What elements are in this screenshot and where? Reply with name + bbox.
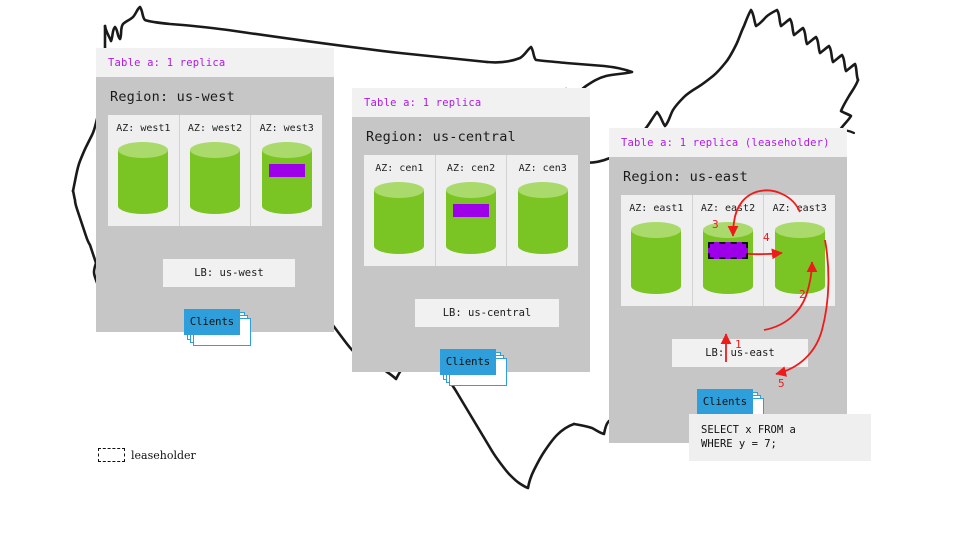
- region-title-us-central: Region: us-central: [352, 117, 590, 155]
- az-west1[interactable]: AZ: west1: [108, 115, 180, 226]
- node-cylinder-west3[interactable]: [262, 142, 312, 214]
- node-cylinder-east3[interactable]: [775, 222, 825, 294]
- panel-body-us-west: Region: us-west AZ: west1 AZ: west2: [96, 77, 334, 332]
- cylinder-top: [446, 182, 496, 198]
- region-panel-us-east: Table a: 1 replica (leaseholder) Region:…: [609, 128, 847, 443]
- leaseholder-swatch-icon: [98, 448, 125, 462]
- cylinder-top: [775, 222, 825, 238]
- node-cylinder-cen3[interactable]: [518, 182, 568, 254]
- cylinder-body: [518, 190, 568, 246]
- node-cylinder-west2[interactable]: [190, 142, 240, 214]
- cylinder-body: [118, 150, 168, 206]
- az-label-east2: AZ: east2: [693, 203, 764, 214]
- region-panel-us-central: Table a: 1 replica Region: us-central AZ…: [352, 88, 590, 372]
- load-balancer-us-west[interactable]: LB: us-west: [163, 259, 295, 287]
- panel-body-us-central: Region: us-central AZ: cen1 AZ: cen2: [352, 117, 590, 372]
- clients-us-central[interactable]: Clients: [440, 349, 496, 375]
- az-row-us-central: AZ: cen1 AZ: cen2: [364, 155, 578, 266]
- az-label-west3: AZ: west3: [251, 123, 322, 134]
- cylinder-top: [518, 182, 568, 198]
- cylinder-body: [775, 230, 825, 286]
- az-cen2[interactable]: AZ: cen2: [436, 155, 508, 266]
- arrow-label-2: 2: [799, 288, 806, 301]
- panel-body-us-east: Region: us-east AZ: east1 AZ: east2: [609, 157, 847, 443]
- cylinder-body: [446, 190, 496, 246]
- clients-label-us-east: Clients: [697, 389, 753, 415]
- diagram-canvas: Table a: 1 replica Region: us-west AZ: w…: [0, 0, 960, 540]
- az-label-cen1: AZ: cen1: [364, 163, 435, 174]
- node-cylinder-east2[interactable]: [703, 222, 753, 294]
- legend: leaseholder: [98, 448, 196, 462]
- cylinder-top: [118, 142, 168, 158]
- load-balancer-us-central[interactable]: LB: us-central: [415, 299, 559, 327]
- az-label-east3: AZ: east3: [764, 203, 835, 214]
- az-label-east1: AZ: east1: [621, 203, 692, 214]
- node-cylinder-cen1[interactable]: [374, 182, 424, 254]
- cylinder-body: [262, 150, 312, 206]
- node-cylinder-west1[interactable]: [118, 142, 168, 214]
- cylinder-top: [374, 182, 424, 198]
- panel-header-us-west: Table a: 1 replica: [96, 48, 334, 77]
- az-row-us-west: AZ: west1 AZ: west2 AZ: [108, 115, 322, 226]
- region-title-us-west: Region: us-west: [96, 77, 334, 115]
- cylinder-top: [703, 222, 753, 238]
- arrow-label-4: 4: [763, 231, 770, 244]
- cylinder-top: [262, 142, 312, 158]
- az-west3[interactable]: AZ: west3: [251, 115, 322, 226]
- panel-header-us-central: Table a: 1 replica: [352, 88, 590, 117]
- node-cylinder-east1[interactable]: [631, 222, 681, 294]
- az-label-cen2: AZ: cen2: [436, 163, 507, 174]
- az-label-west1: AZ: west1: [108, 123, 179, 134]
- cylinder-body: [190, 150, 240, 206]
- replica-marker-cen2: [453, 204, 489, 217]
- node-cylinder-cen2[interactable]: [446, 182, 496, 254]
- cylinder-body: [374, 190, 424, 246]
- sql-query-box: SELECT x FROM a WHERE y = 7;: [689, 414, 871, 461]
- cylinder-top: [631, 222, 681, 238]
- az-cen3[interactable]: AZ: cen3: [507, 155, 578, 266]
- az-west2[interactable]: AZ: west2: [180, 115, 252, 226]
- arrow-label-1: 1: [735, 338, 742, 351]
- az-label-cen3: AZ: cen3: [507, 163, 578, 174]
- clients-label-us-west: Clients: [184, 309, 240, 335]
- region-title-us-east: Region: us-east: [609, 157, 847, 195]
- clients-label-us-central: Clients: [440, 349, 496, 375]
- cylinder-top: [190, 142, 240, 158]
- panel-header-us-east: Table a: 1 replica (leaseholder): [609, 128, 847, 157]
- cylinder-body: [631, 230, 681, 286]
- arrow-label-5: 5: [778, 377, 785, 390]
- leaseholder-marker-east2: [708, 242, 748, 259]
- region-panel-us-west: Table a: 1 replica Region: us-west AZ: w…: [96, 48, 334, 332]
- replica-marker-west3: [269, 164, 305, 177]
- az-cen1[interactable]: AZ: cen1: [364, 155, 436, 266]
- clients-us-west[interactable]: Clients: [184, 309, 240, 335]
- clients-us-east[interactable]: Clients: [697, 389, 753, 415]
- az-east2[interactable]: AZ: east2: [693, 195, 765, 306]
- az-east1[interactable]: AZ: east1: [621, 195, 693, 306]
- arrow-label-3: 3: [712, 218, 719, 231]
- az-label-west2: AZ: west2: [180, 123, 251, 134]
- legend-label-leaseholder: leaseholder: [131, 449, 196, 462]
